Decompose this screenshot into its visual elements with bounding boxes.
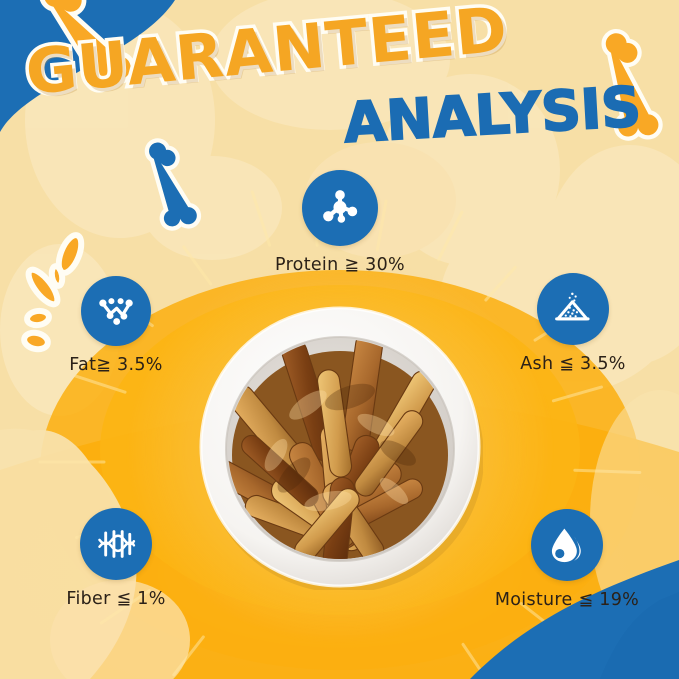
bowl-of-chicken-jerky-treats [198,305,483,590]
nutrient-item-moisture[interactable]: Moisture ≦ 19% [467,509,667,610]
nutrient-label-moisture: Moisture ≦ 19% [495,590,639,610]
fat-droplets-icon [95,290,137,332]
nutrient-label-ash: Ash ≦ 3.5% [520,354,625,374]
nutrient-item-fat[interactable]: Fat≧ 3.5% [16,276,216,375]
molecule-icon [318,186,362,230]
ash-badge[interactable] [537,273,609,345]
ash-mound-icon [552,288,594,330]
moisture-badge[interactable] [531,509,603,581]
water-droplet-icon [546,524,588,566]
bowl-illustration [198,305,483,590]
guaranteed-analysis-infographic: GUARANTEED ANALYSIS [0,0,679,679]
woven-fiber-icon [94,522,138,566]
nutrient-item-fiber[interactable]: Fiber ≦ 1% [16,508,216,609]
nutrient-item-ash[interactable]: Ash ≦ 3.5% [473,273,673,374]
nutrient-label-fat: Fat≧ 3.5% [69,355,162,375]
bone-mid-left-icon [122,140,220,236]
fat-badge[interactable] [81,276,151,346]
nutrient-item-protein[interactable]: Protein ≧ 30% [240,170,440,275]
nutrient-label-fiber: Fiber ≦ 1% [66,589,165,609]
protein-badge[interactable] [302,170,378,246]
fiber-badge[interactable] [80,508,152,580]
bone-top-right-icon [568,29,679,149]
bone-top-left-icon [27,0,145,94]
nutrient-label-protein: Protein ≧ 30% [275,255,405,275]
